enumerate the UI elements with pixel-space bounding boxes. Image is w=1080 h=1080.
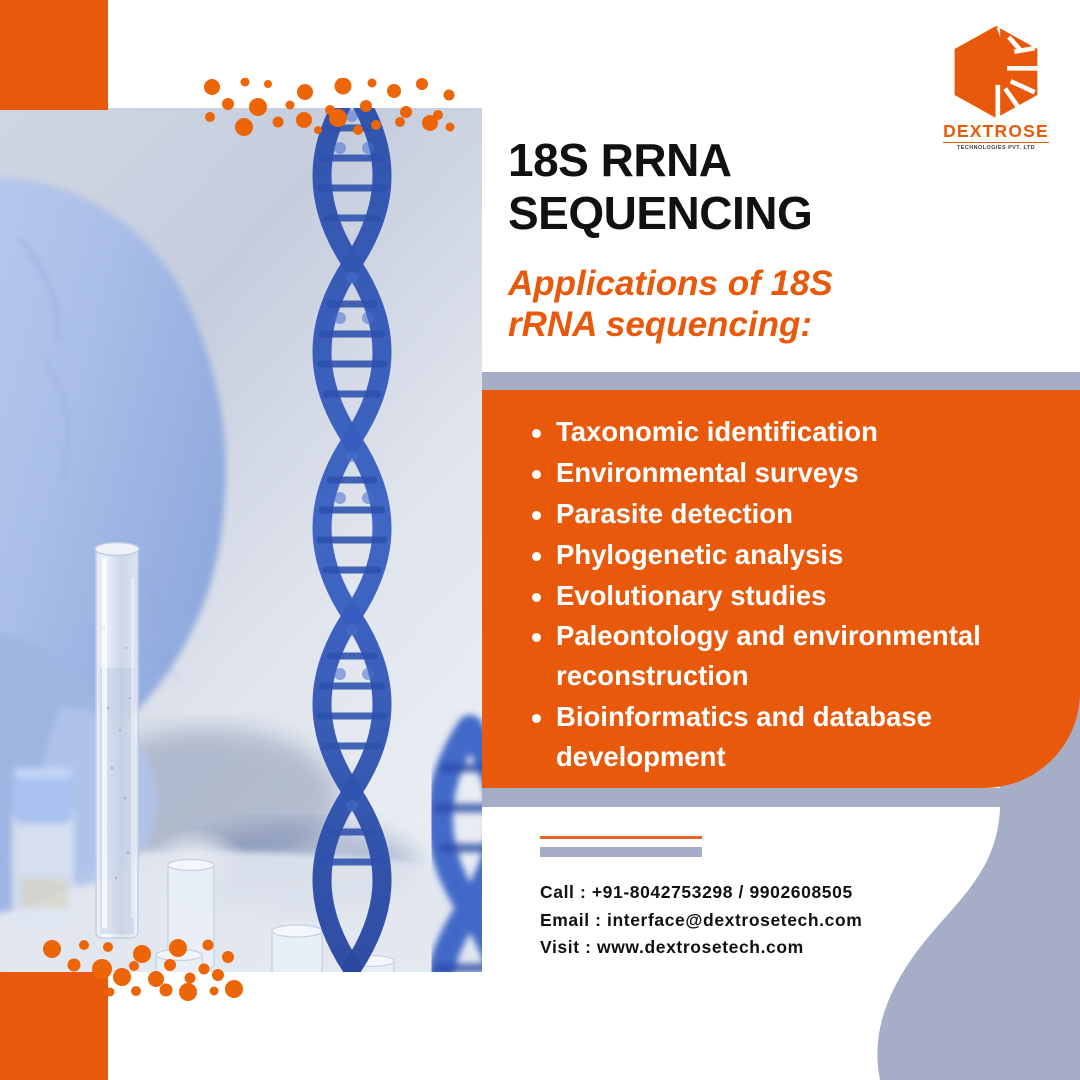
applications-panel: Taxonomic identification Environmental s… [482,390,1080,788]
company-logo[interactable]: DEXTROSE TECHNOLOGIES PVT. LTD [937,24,1055,151]
list-item: Evolutionary studies [526,576,1060,616]
title-line-1: 18S RRNA [508,134,938,187]
lab-photo [0,108,482,972]
divider-strip-bottom [482,788,1080,807]
contact-phone[interactable]: Call : +91-8042753298 / 9902608505 [540,879,1000,907]
subtitle-line-2: rRNA sequencing: [508,304,938,345]
accent-rule-orange [540,836,702,839]
contact-block: Call : +91-8042753298 / 9902608505 Email… [540,836,1000,962]
poster-canvas: 18S RRNA SEQUENCING Applications of 18S … [0,0,1080,1080]
logo-tagline: TECHNOLOGIES PVT. LTD [937,145,1055,151]
divider-strip-top [482,372,1080,391]
list-item: Bioinformatics and database development [526,697,1060,777]
applications-list: Taxonomic identification Environmental s… [526,412,1060,778]
list-item: Paleontology and environmental reconstru… [526,616,1060,696]
logo-wordmark: DEXTROSE [943,122,1049,143]
page-title: 18S RRNA SEQUENCING Applications of 18S … [508,134,938,345]
decorative-dot-cluster-top [200,78,470,158]
subtitle-line-1: Applications of 18S [508,263,938,304]
contact-email[interactable]: Email : interface@dextrosetech.com [540,907,1000,935]
accent-rule-grey [540,847,702,857]
list-item: Phylogenetic analysis [526,535,1060,575]
contact-website[interactable]: Visit : www.dextrosetech.com [540,934,1000,962]
list-item: Environmental surveys [526,453,1060,493]
list-item: Parasite detection [526,494,1060,534]
list-item: Taxonomic identification [526,412,1060,452]
content-column: 18S RRNA SEQUENCING Applications of 18S … [482,0,1080,1080]
title-line-2: SEQUENCING [508,187,938,240]
hexagon-burst-icon [950,24,1042,120]
decorative-dot-cluster-bottom [30,935,290,1013]
corner-accent-top-left [0,0,108,110]
page-subtitle: Applications of 18S rRNA sequencing: [508,263,938,346]
